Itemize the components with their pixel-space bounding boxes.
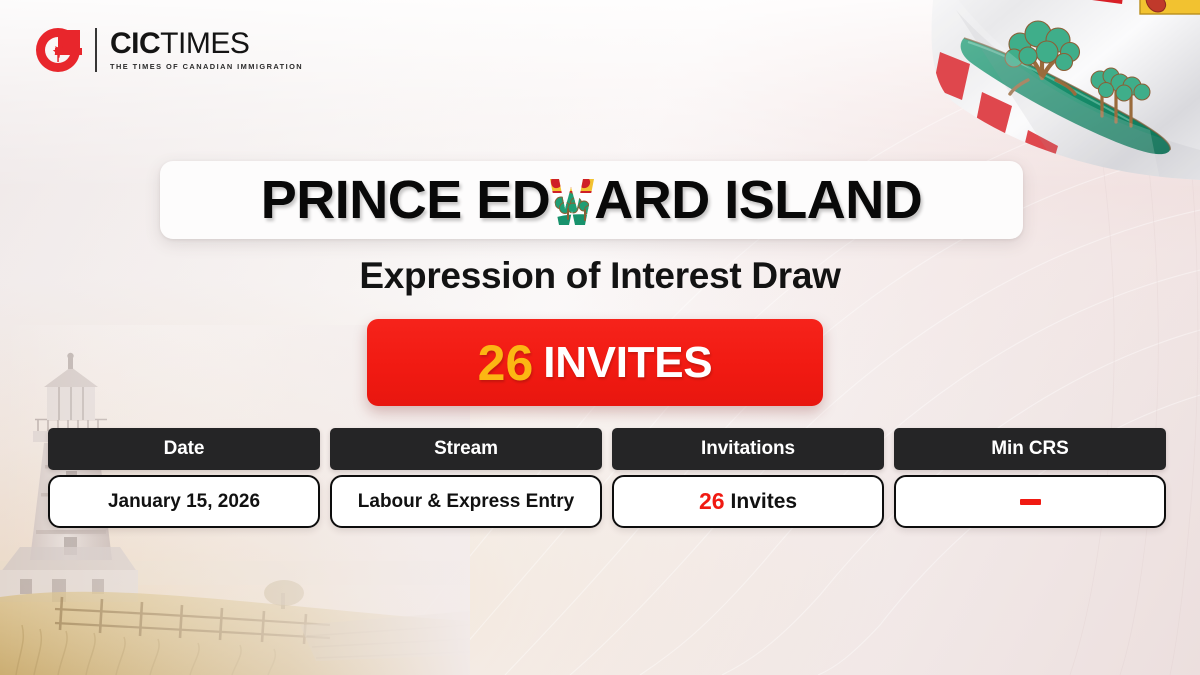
draw-details-table: Date Stream Invitations Min CRS January … — [48, 428, 1148, 528]
poster-canvas: CICTIMES THE TIMES OF CANADIAN IMMIGRATI… — [0, 0, 1200, 675]
logo-name: CICTIMES — [110, 29, 303, 60]
column-header-min-crs: Min CRS — [894, 428, 1166, 470]
title-part-after: ARD ISLAND — [594, 173, 922, 227]
column-header-stream: Stream — [330, 428, 602, 470]
logo-divider — [95, 28, 97, 72]
invites-banner: 26 INVITES — [367, 319, 823, 406]
cell-invitations-word: Invites — [731, 490, 798, 514]
prince-edward-island-flag-icon — [860, 0, 1200, 180]
logo-wordmark: CICTIMES THE TIMES OF CANADIAN IMMIGRATI… — [110, 29, 303, 72]
site-logo[interactable]: CICTIMES THE TIMES OF CANADIAN IMMIGRATI… — [34, 26, 303, 74]
page-subtitle: Expression of Interest Draw — [0, 255, 1200, 297]
invites-label: INVITES — [543, 341, 712, 385]
min-crs-dash-icon — [1020, 499, 1041, 505]
cell-invitations-count: 26 — [699, 488, 725, 515]
cell-invitations: 26Invites — [612, 475, 884, 528]
table-row: January 15, 2026 Labour & Express Entry … — [48, 475, 1148, 528]
title-part-before: PRINCE ED — [261, 173, 551, 227]
column-header-invitations: Invitations — [612, 428, 884, 470]
cell-stream: Labour & Express Entry — [330, 475, 602, 528]
cic-circle-maple-leaf-icon — [34, 26, 82, 74]
title-card: PRINCE ED — [160, 161, 1023, 239]
cell-date: January 15, 2026 — [48, 475, 320, 528]
logo-tagline: THE TIMES OF CANADIAN IMMIGRATION — [110, 62, 303, 71]
invites-count: 26 — [478, 338, 534, 388]
cell-min-crs — [894, 475, 1166, 528]
table-header-row: Date Stream Invitations Min CRS — [48, 428, 1148, 470]
page-title: PRINCE ED — [261, 173, 923, 227]
column-header-date: Date — [48, 428, 320, 470]
pei-coat-of-arms-letter-w-icon — [549, 175, 595, 229]
